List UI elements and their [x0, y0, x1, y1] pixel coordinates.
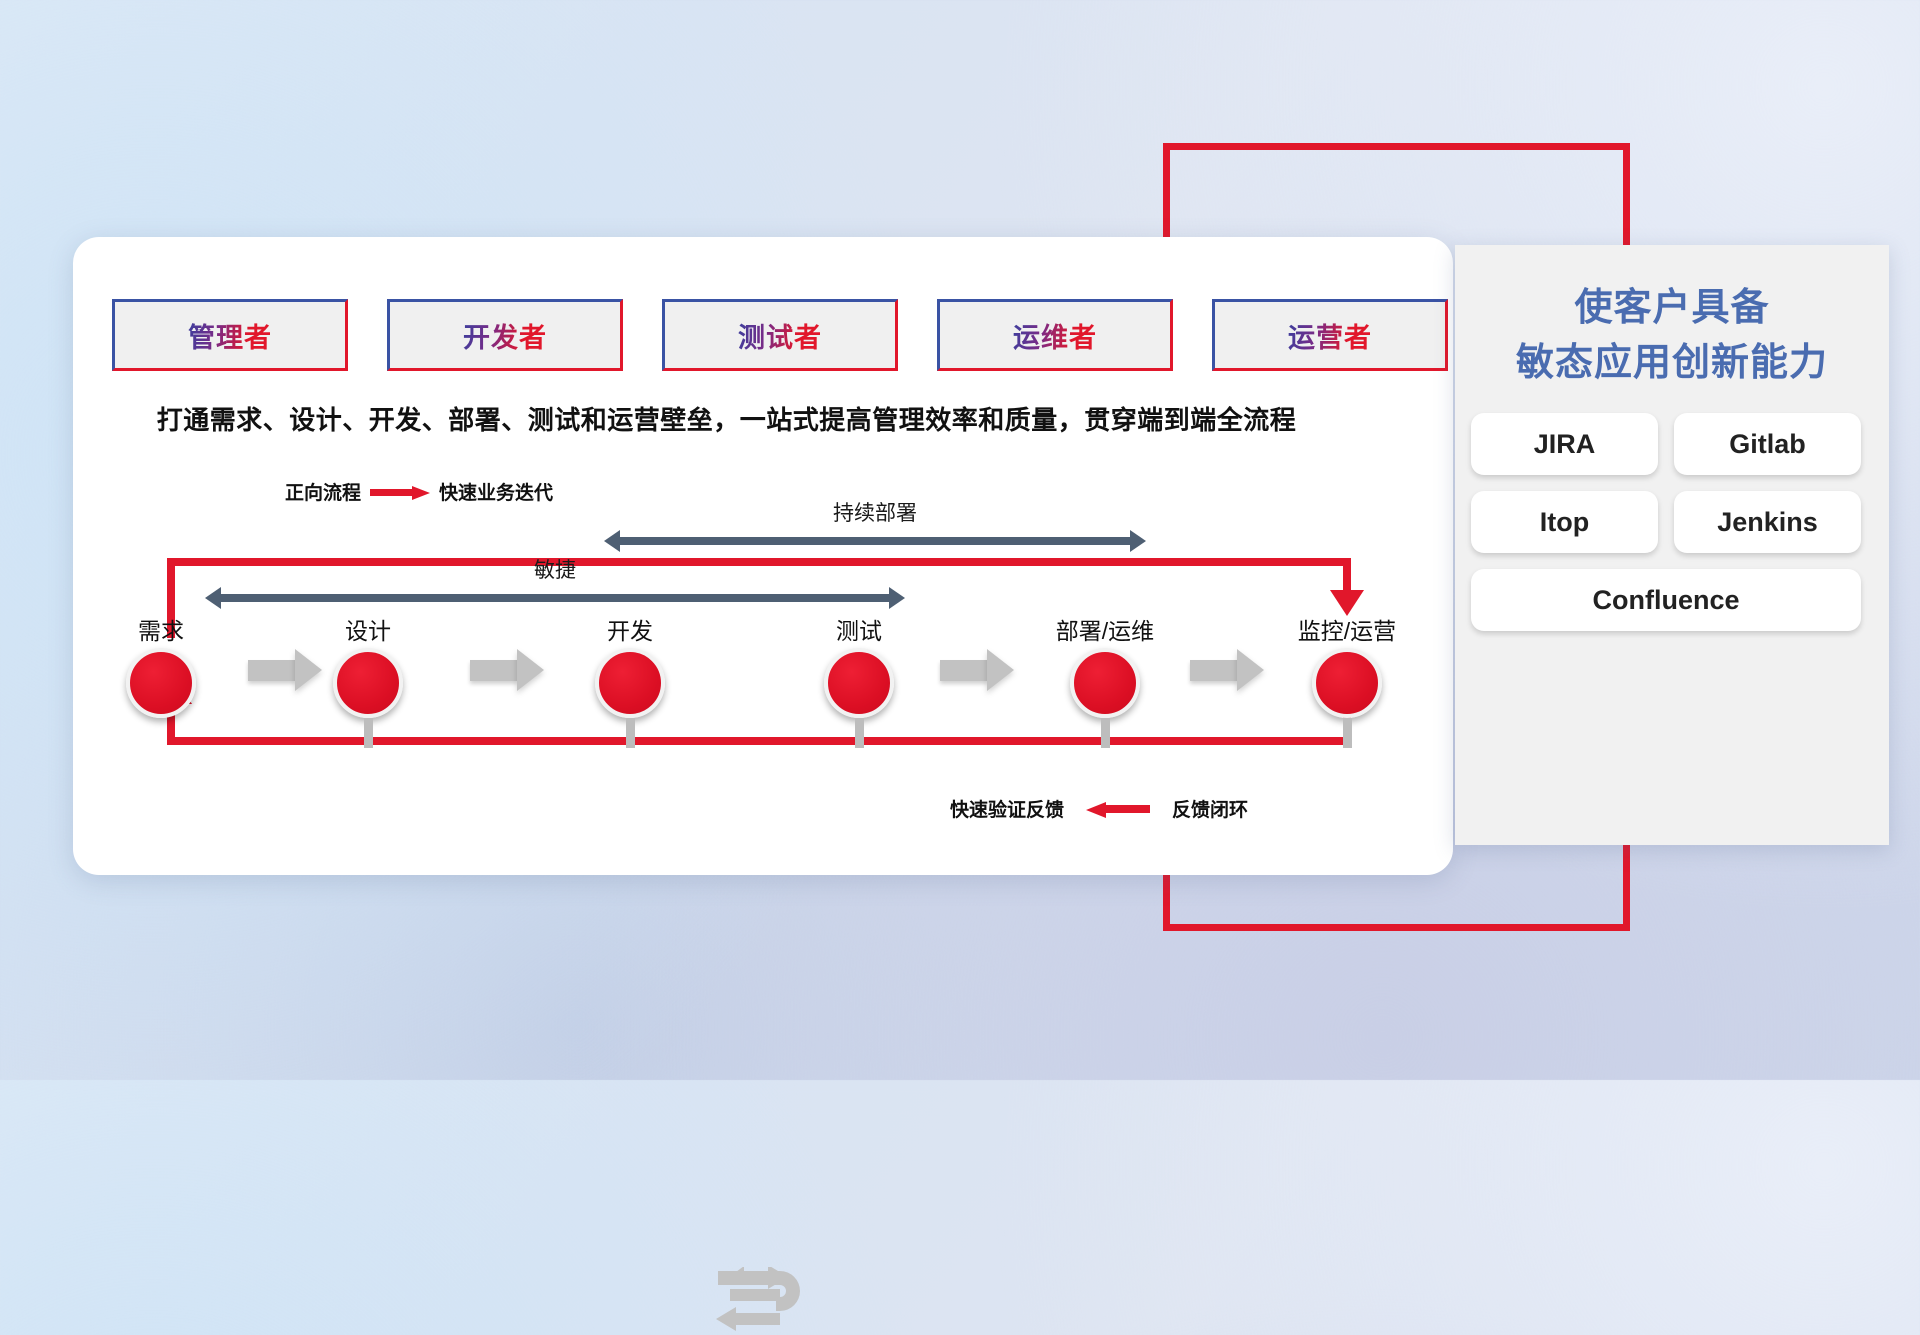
- stage-label: 测试: [784, 612, 934, 646]
- forward-flow-legend: 正向流程 快速业务迭代: [285, 478, 553, 505]
- pipeline-stage-development[interactable]: 开发: [555, 612, 705, 748]
- pipeline-stage-testing[interactable]: 测试: [784, 612, 934, 748]
- continuous-deployment-label: 持续部署: [604, 497, 1146, 527]
- tool-chip-label: JIRA: [1534, 429, 1596, 460]
- role-label: 运维者: [1013, 316, 1097, 355]
- panel-heading-line1: 使客户具备: [1455, 281, 1889, 336]
- stage-dot-icon: [333, 648, 403, 718]
- role-box-manager[interactable]: 管理者: [112, 299, 348, 371]
- panel-heading: 使客户具备 敏态应用创新能力: [1455, 245, 1889, 391]
- role-box-ops[interactable]: 运维者: [937, 299, 1173, 371]
- role-box-operations[interactable]: 运营者: [1212, 299, 1448, 371]
- tool-chip-itop[interactable]: Itop: [1471, 491, 1658, 553]
- gray-arrow-2-icon: [470, 649, 544, 691]
- stage-label: 监控/运营: [1272, 612, 1422, 646]
- stage-label: 开发: [555, 612, 705, 646]
- pipeline-stage-design[interactable]: 设计: [293, 612, 443, 748]
- pipeline-stage-requirement[interactable]: 需求: [86, 612, 236, 748]
- red-left-arrow-icon: [1086, 802, 1150, 816]
- pipeline-stage-deploy-ops[interactable]: 部署/运维: [1030, 612, 1180, 748]
- tool-chip-label: Confluence: [1592, 585, 1739, 616]
- tool-chip-label: Itop: [1540, 507, 1589, 538]
- stage-stem: [364, 718, 373, 748]
- stage-dot-icon: [595, 648, 665, 718]
- arrow-head-right-icon: [889, 587, 905, 609]
- red-frame-bottom-segment: [1163, 924, 1630, 931]
- arrow-shaft: [618, 537, 1132, 545]
- tool-chip-jira[interactable]: JIRA: [1471, 413, 1658, 475]
- stage-dot-icon: [126, 648, 196, 718]
- role-label: 运营者: [1288, 316, 1372, 355]
- continuous-deployment-span-arrow: 持续部署: [604, 530, 1146, 552]
- gray-arrow-3-icon: [940, 649, 1014, 691]
- role-label: 管理者: [188, 316, 272, 355]
- arrow-shaft: [219, 594, 891, 602]
- stage-label: 部署/运维: [1030, 612, 1180, 646]
- role-label: 测试者: [738, 316, 822, 355]
- tool-chip-label: Jenkins: [1717, 507, 1818, 538]
- feedback-closed-loop-label: 反馈闭环: [1172, 795, 1248, 822]
- red-frame-top-segment: [1163, 143, 1630, 150]
- stage-label: 需求: [86, 612, 236, 646]
- tool-chip-label: Gitlab: [1729, 429, 1806, 460]
- slide-canvas: 管理者 开发者 测试者 运维者 运营者 打通需求、设计、开发、部署、测试和运营壁…: [0, 0, 1920, 1080]
- tools-panel: 使客户具备 敏态应用创新能力 JIRA Gitlab Itop Jenkins …: [1455, 245, 1889, 845]
- stage-stem: [157, 718, 166, 748]
- stage-label: 设计: [293, 612, 443, 646]
- panel-heading-line2: 敏态应用创新能力: [1455, 336, 1889, 391]
- tool-chip-jenkins[interactable]: Jenkins: [1674, 491, 1861, 553]
- stage-stem: [1101, 718, 1110, 748]
- feedback-loop-legend: 快速验证反馈 反馈闭环: [950, 795, 1248, 822]
- stage-dot-icon: [1312, 648, 1382, 718]
- stage-stem: [855, 718, 864, 748]
- agile-label: 敏捷: [205, 554, 905, 584]
- fast-iteration-label: 快速业务迭代: [439, 478, 553, 505]
- stage-stem: [626, 718, 635, 748]
- pipeline-stage-monitor-operations[interactable]: 监控/运营: [1272, 612, 1422, 748]
- tool-chip-grid: JIRA Gitlab Itop Jenkins Confluence: [1471, 413, 1873, 631]
- agile-span-arrow: 敏捷: [205, 587, 905, 609]
- forward-flow-label: 正向流程: [285, 478, 361, 505]
- headline-text: 打通需求、设计、开发、部署、测试和运营壁垒，一站式提高管理效率和质量，贯穿端到端…: [0, 400, 1453, 437]
- red-right-arrow-icon: [370, 486, 430, 498]
- tool-chip-confluence[interactable]: Confluence: [1471, 569, 1861, 631]
- stage-dot-icon: [824, 648, 894, 718]
- stage-stem: [1343, 718, 1352, 748]
- role-box-tester[interactable]: 测试者: [662, 299, 898, 371]
- arrow-head-right-icon: [1130, 530, 1146, 552]
- role-box-row: 管理者 开发者 测试者 运维者 运营者: [112, 299, 1448, 371]
- iteration-loop-arrow-icon: [706, 1267, 818, 1335]
- role-label: 开发者: [463, 316, 547, 355]
- role-box-developer[interactable]: 开发者: [387, 299, 623, 371]
- stage-dot-icon: [1070, 648, 1140, 718]
- pipeline-row: 需求 设计 开发: [0, 612, 1453, 732]
- gray-arrow-4-icon: [1190, 649, 1264, 691]
- fast-validation-label: 快速验证反馈: [950, 795, 1064, 822]
- tool-chip-gitlab[interactable]: Gitlab: [1674, 413, 1861, 475]
